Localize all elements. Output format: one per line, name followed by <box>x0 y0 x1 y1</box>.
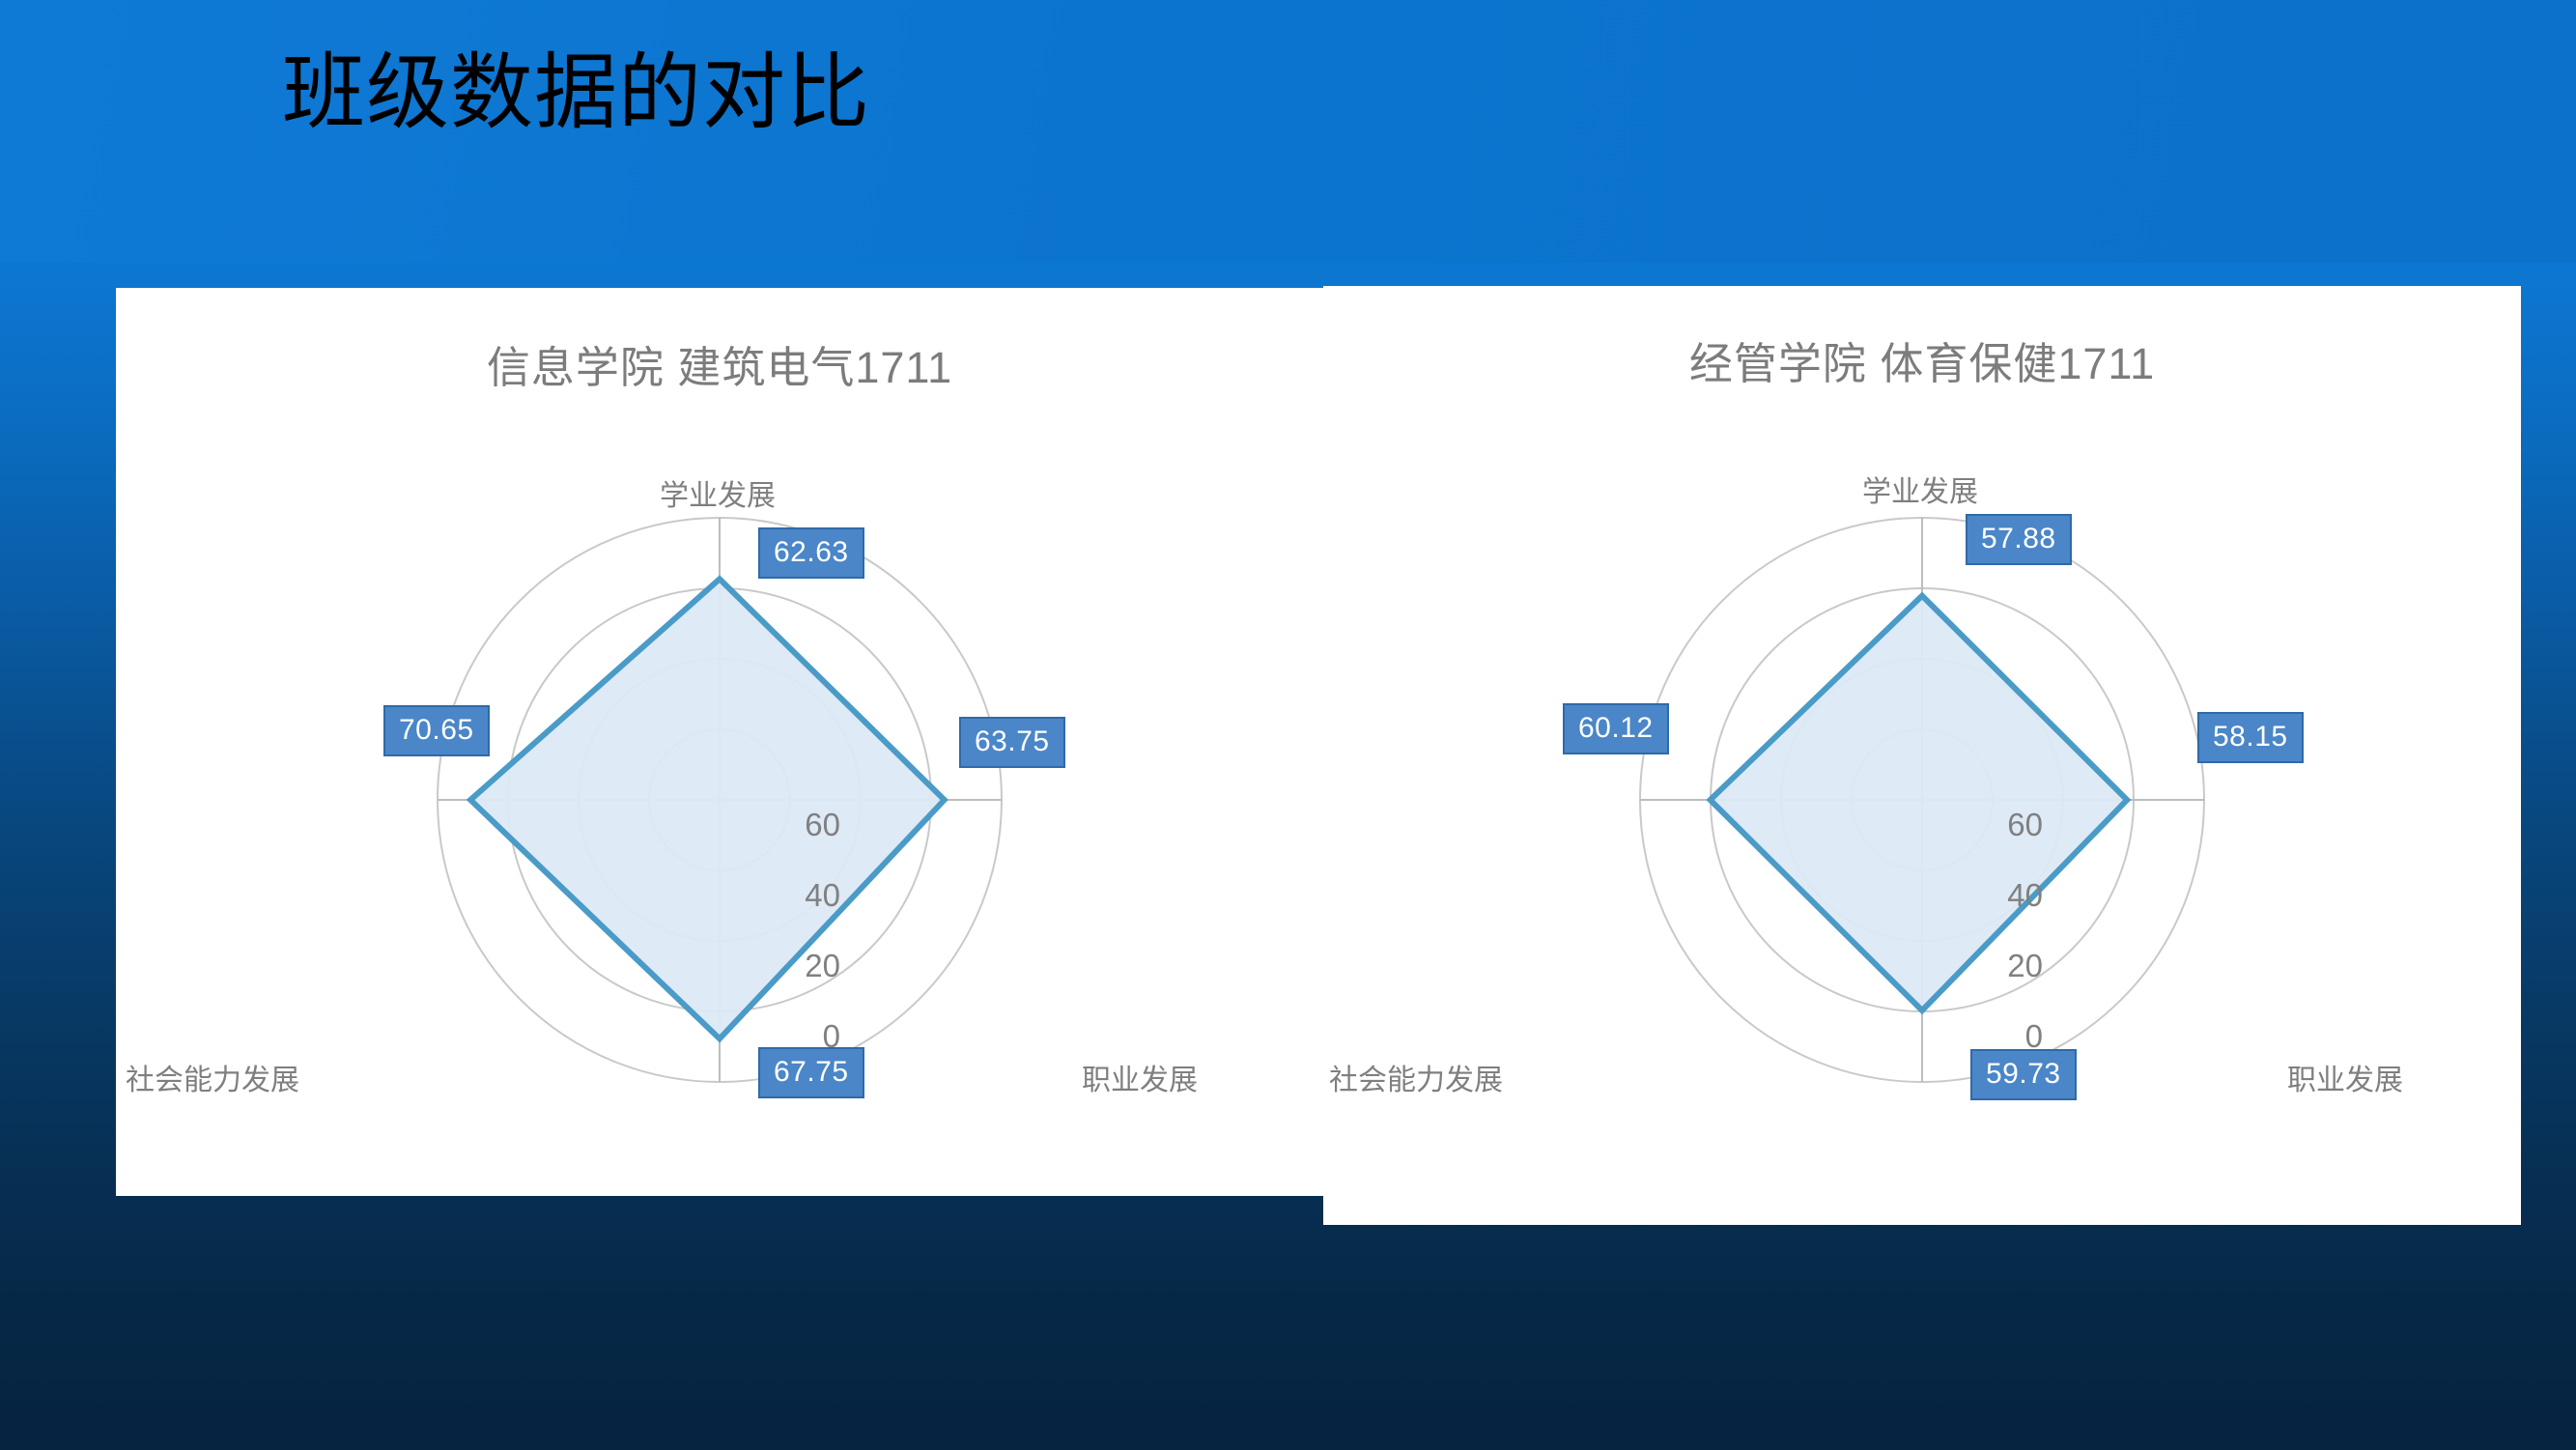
radial-tick-right-20: 20 <box>1973 948 2043 984</box>
radar-series-polygon-right <box>1711 596 2128 1010</box>
axis-label-right-social: 社会能力发展 <box>1329 1056 1503 1098</box>
radar-series-polygon-left <box>470 579 945 1038</box>
axis-label-right-right: 职业发展 <box>2287 1056 2403 1098</box>
chart-panel-left[interactable]: 信息学院 建筑电气1711 学业发展 职业发展 个人发展 社会能力发展 <box>116 288 1323 1196</box>
chart-panel-right[interactable]: 经管学院 体育保健1711 学业发展 职业发展 个人发展 社会能力发展 0 20… <box>1323 286 2521 1225</box>
radial-tick-right-40: 40 <box>1973 877 2043 914</box>
slide-title: 班级数据的对比 <box>282 46 870 139</box>
radar-chart-right: 学业发展 职业发展 个人发展 社会能力发展 0 20 40 60 57.88 5… <box>1323 286 2521 1225</box>
radar-chart-left: 学业发展 职业发展 个人发展 社会能力发展 0 20 40 60 62.63 6… <box>116 288 1323 1196</box>
value-badge-left-career: 63.75 <box>959 717 1065 768</box>
radial-tick-left-60: 60 <box>771 807 840 843</box>
axis-label-left-right: 职业发展 <box>1082 1056 1198 1098</box>
axis-label-left-top: 学业发展 <box>660 471 776 514</box>
value-badge-right-social: 60.12 <box>1563 703 1669 754</box>
radial-tick-right-60: 60 <box>1973 807 2043 843</box>
value-badge-left-social: 70.65 <box>383 705 490 756</box>
value-badge-right-career: 58.15 <box>2197 712 2304 763</box>
value-badge-left-academic: 62.63 <box>758 527 864 579</box>
value-badge-left-personal: 67.75 <box>758 1047 864 1098</box>
axis-label-right-top: 学业发展 <box>1862 468 1978 510</box>
radial-tick-left-40: 40 <box>771 877 840 914</box>
radial-tick-left-20: 20 <box>771 948 840 984</box>
value-badge-right-personal: 59.73 <box>1970 1049 2077 1100</box>
axis-label-left-social: 社会能力发展 <box>126 1056 299 1098</box>
value-badge-right-academic: 57.88 <box>1966 514 2072 565</box>
